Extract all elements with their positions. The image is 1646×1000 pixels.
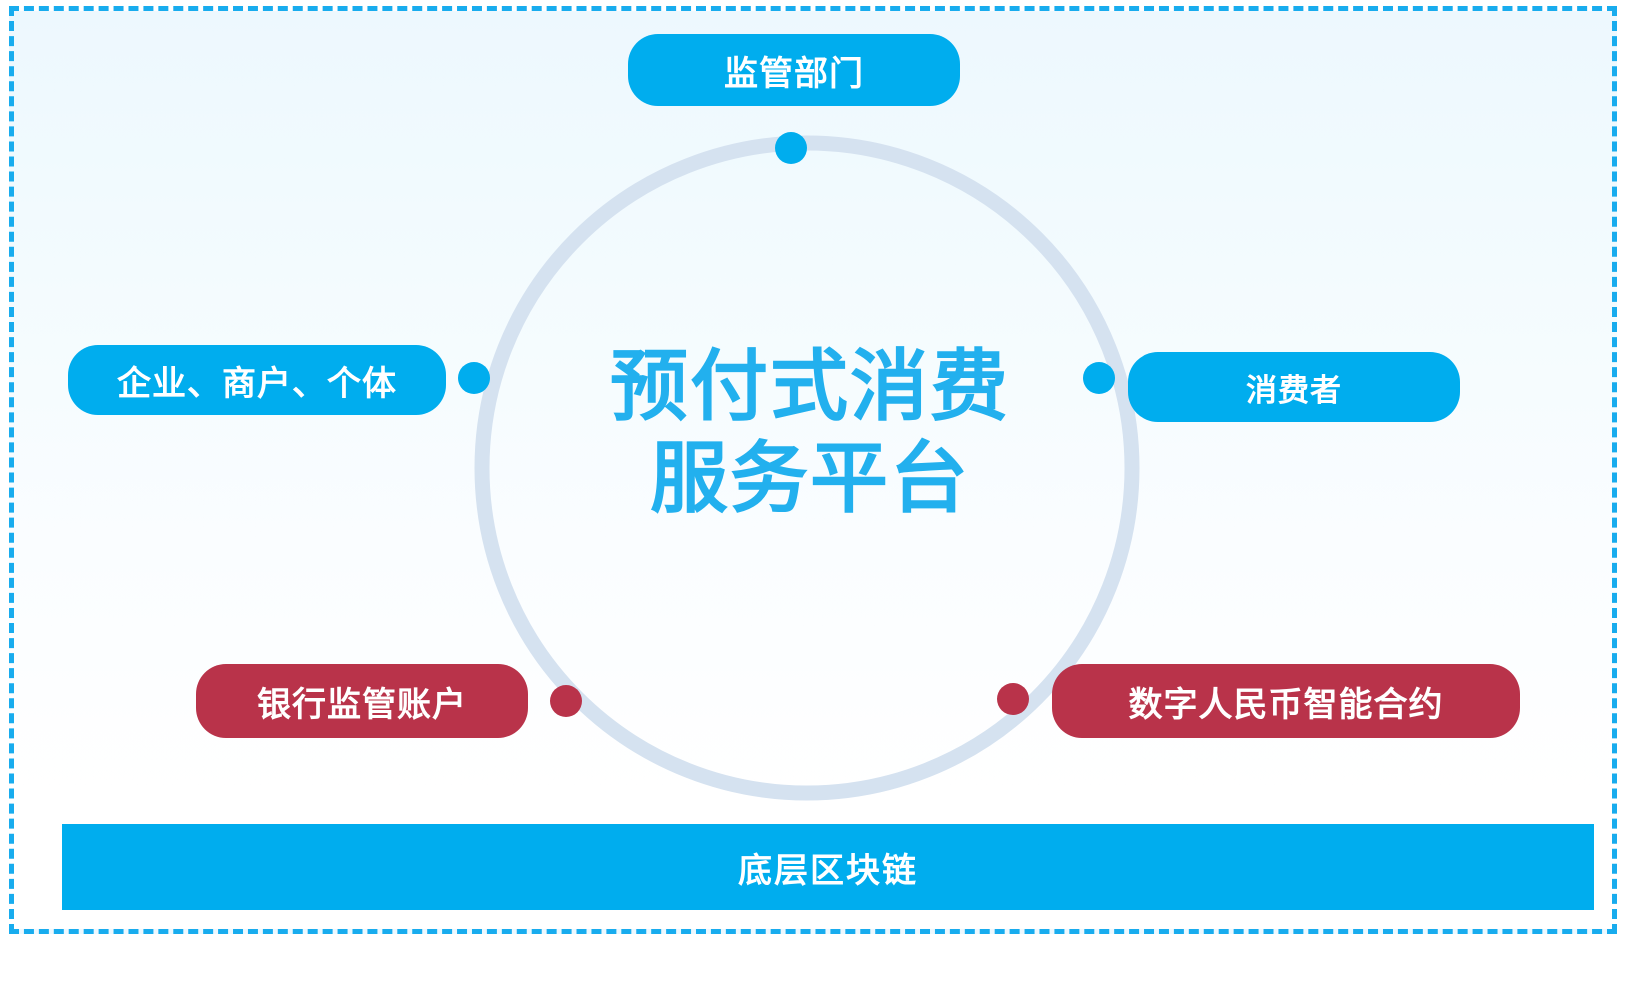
node-enterprise-merchant-individual[interactable]: 企业、商户、个体 xyxy=(68,345,446,415)
diagram-canvas: 预付式消费 服务平台 监管部门 企业、商户、个体 消费者 银行监管账户 数字人民… xyxy=(0,0,1646,1000)
center-title-line-1: 预付式消费 xyxy=(560,340,1060,432)
center-title: 预付式消费 服务平台 xyxy=(560,340,1060,524)
node-consumer[interactable]: 消费者 xyxy=(1128,352,1460,422)
node-digital-rmb-smart-contract[interactable]: 数字人民币智能合约 xyxy=(1052,664,1520,738)
footer-band-blockchain[interactable]: 底层区块链 xyxy=(62,824,1594,910)
center-title-line-2: 服务平台 xyxy=(560,432,1060,524)
node-bank-supervision-account[interactable]: 银行监管账户 xyxy=(196,664,528,738)
node-regulator[interactable]: 监管部门 xyxy=(628,34,960,106)
